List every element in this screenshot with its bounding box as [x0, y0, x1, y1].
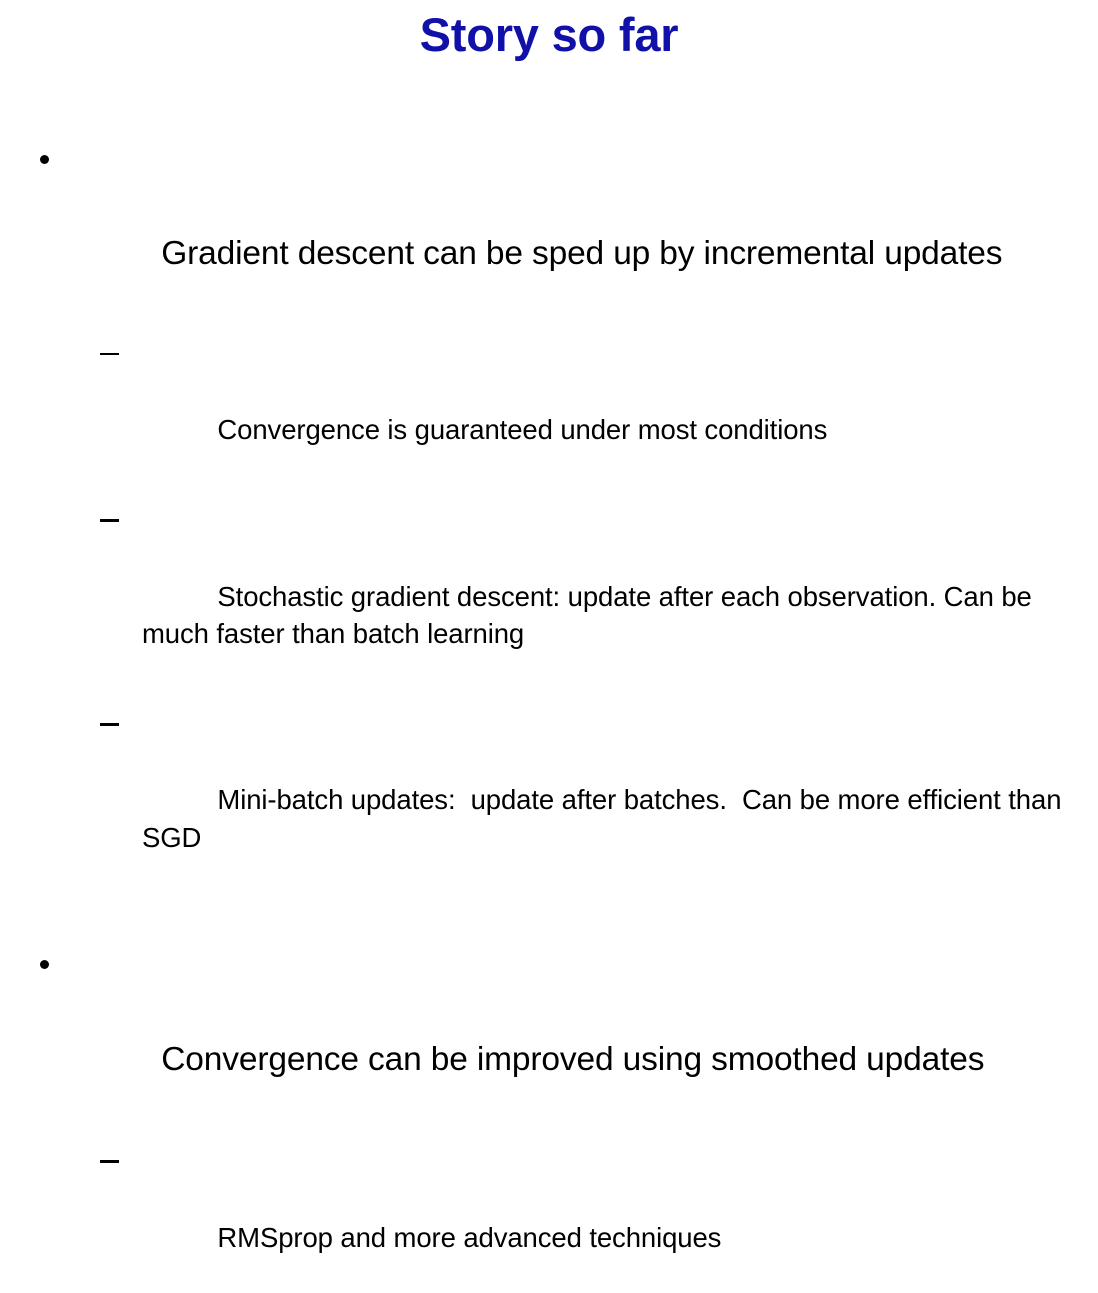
bullet-level2-text: Mini-batch updates: update after batches…	[142, 784, 1069, 852]
bullet-level1-text: Gradient descent can be sped up by incre…	[161, 235, 1002, 272]
bullet-level2: Stochastic gradient descent: update afte…	[0, 503, 1098, 690]
bullet-level2: RMSprop and more advanced techniques	[0, 1144, 1098, 1293]
sub-bullet-list: RMSprop and more advanced techniques	[0, 1144, 1098, 1293]
sub-bullet-list: Convergence is guaranteed under most con…	[0, 336, 1098, 893]
bullet-level1: Convergence can be improved using smooth…	[0, 946, 1098, 1128]
slide-body: Gradient descent can be sped up by incre…	[0, 140, 1098, 1293]
bullet-dash-icon	[100, 336, 126, 373]
bullet-dash-icon	[100, 707, 126, 744]
bullet-dash-icon	[100, 1144, 126, 1181]
bullet-level2-text: RMSprop and more advanced techniques	[217, 1222, 721, 1253]
bullet-level1: Gradient descent can be sped up by incre…	[0, 140, 1098, 322]
bullet-level1-text: Convergence can be improved using smooth…	[161, 1041, 984, 1078]
bullet-level2-text: Stochastic gradient descent: update afte…	[142, 581, 1039, 649]
bullet-group: Convergence can be improved using smooth…	[0, 946, 1098, 1293]
bullet-dash-icon	[100, 503, 126, 540]
bullet-level2: Convergence is guaranteed under most con…	[0, 336, 1098, 486]
bullet-group: Gradient descent can be sped up by incre…	[0, 140, 1098, 894]
bullet-dot-icon	[40, 140, 62, 186]
page-title: Story so far	[0, 8, 1098, 62]
bullet-level2: Mini-batch updates: update after batches…	[0, 707, 1098, 894]
presentation-slide: Story so far Gradient descent can be spe…	[0, 0, 1098, 733]
bullet-dot-icon	[40, 946, 62, 992]
bullet-level2-text: Convergence is guaranteed under most con…	[217, 414, 827, 445]
